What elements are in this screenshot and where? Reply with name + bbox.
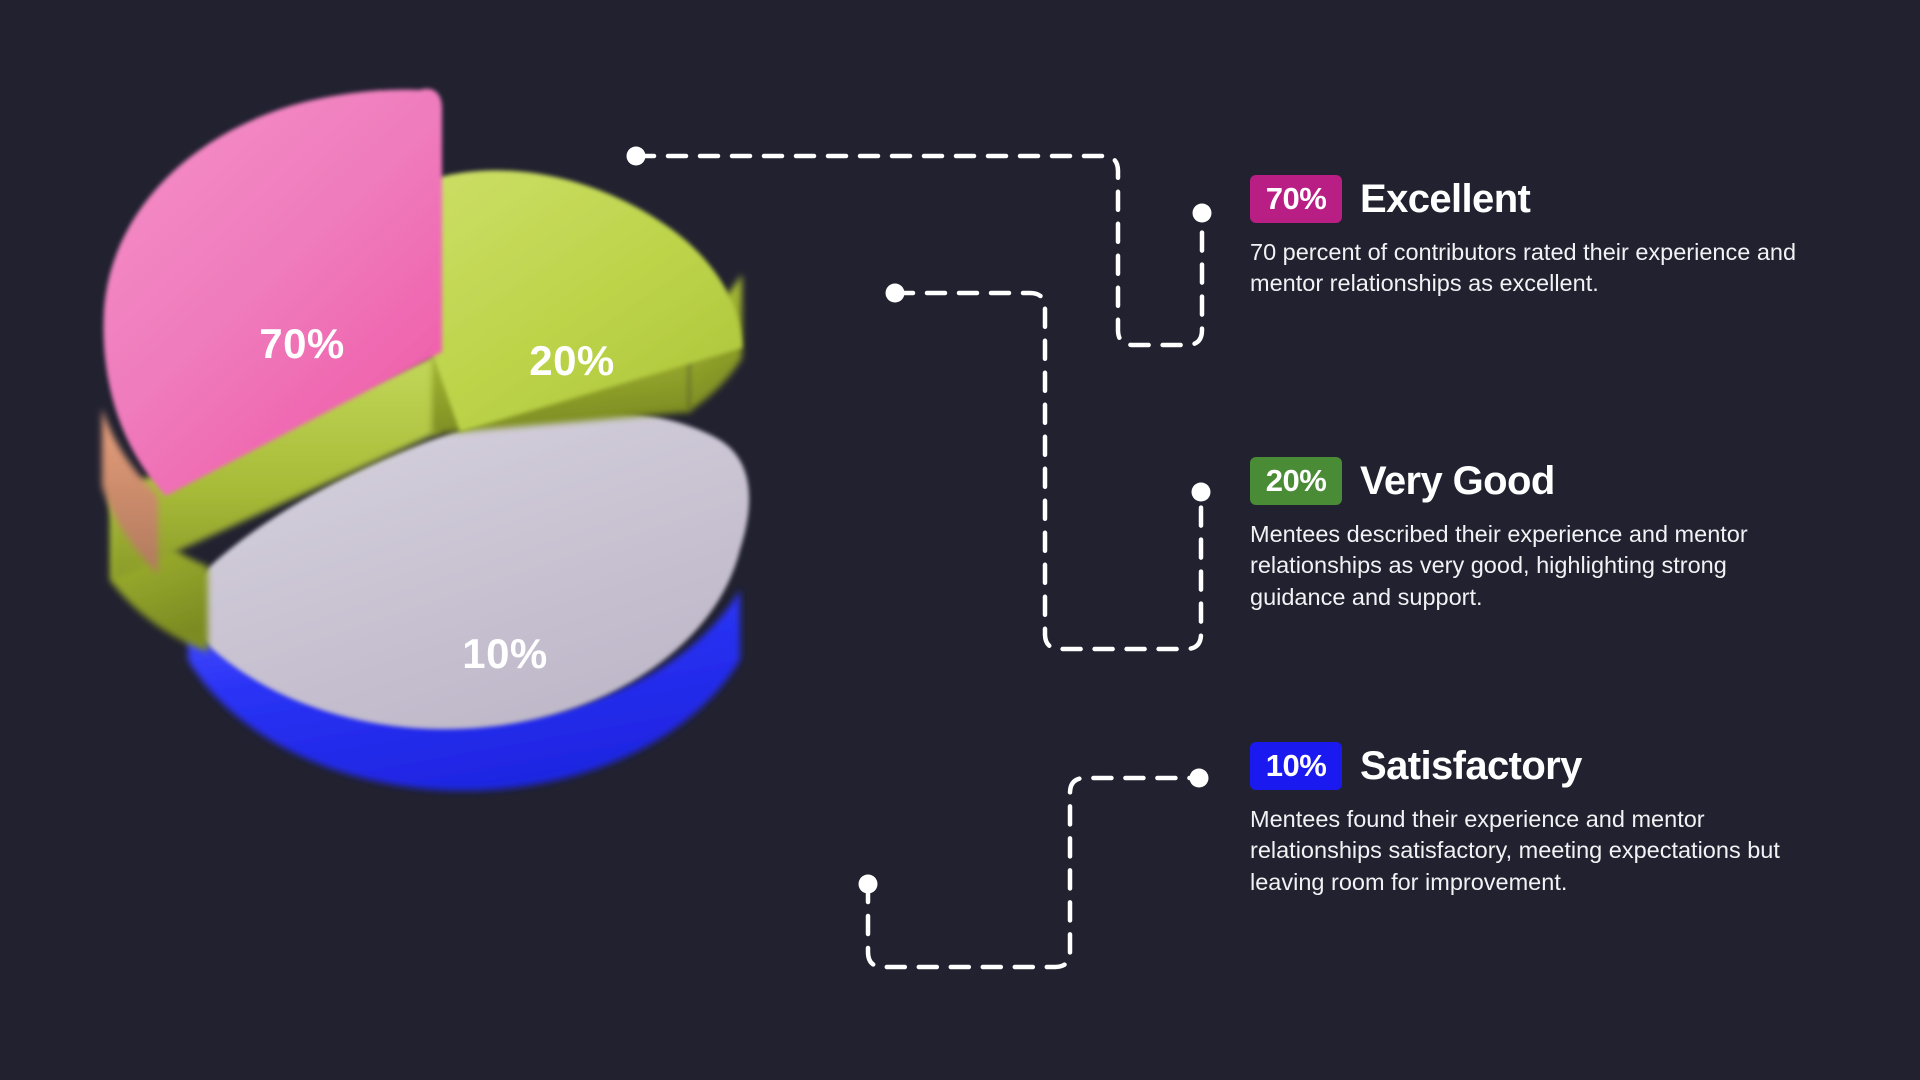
legend-description-very-good: Mentees described their experience and m… [1250, 519, 1798, 613]
pie-chart: 70% 20% 10% [80, 60, 1010, 1020]
legend-head-satisfactory: 10% Satisfactory [1250, 742, 1850, 790]
legend-description-satisfactory: Mentees found their experience and mento… [1250, 804, 1798, 898]
legend-head-excellent: 70% Excellent [1250, 175, 1850, 223]
connector-dot-satisfactory-end [1190, 769, 1209, 788]
legend-badge-very-good: 20% [1250, 457, 1342, 505]
legend-item-excellent[interactable]: 70% Excellent 70 percent of contributors… [1250, 175, 1850, 300]
legend: 70% Excellent 70 percent of contributors… [1250, 0, 1870, 1080]
legend-item-very-good[interactable]: 20% Very Good Mentees described their ex… [1250, 457, 1850, 613]
pie-chart-svg: 70% 20% 10% [80, 60, 1010, 1020]
pie-label-very-good: 20% [529, 337, 615, 384]
legend-badge-excellent: 70% [1250, 175, 1342, 223]
legend-badge-satisfactory: 10% [1250, 742, 1342, 790]
connector-dot-excellent-end [1193, 204, 1212, 223]
legend-title-very-good: Very Good [1360, 459, 1555, 504]
legend-title-excellent: Excellent [1360, 177, 1530, 222]
pie-label-excellent: 70% [259, 320, 345, 367]
connector-dot-very-good-end [1192, 483, 1211, 502]
legend-title-satisfactory: Satisfactory [1360, 744, 1582, 789]
pie-label-satisfactory: 10% [462, 630, 548, 677]
legend-item-satisfactory[interactable]: 10% Satisfactory Mentees found their exp… [1250, 742, 1850, 898]
legend-description-excellent: 70 percent of contributors rated their e… [1250, 237, 1798, 300]
legend-head-very-good: 20% Very Good [1250, 457, 1850, 505]
pie-chart-infographic: 70% 20% 10% 70% Excellent 70 percent of … [0, 0, 1920, 1080]
